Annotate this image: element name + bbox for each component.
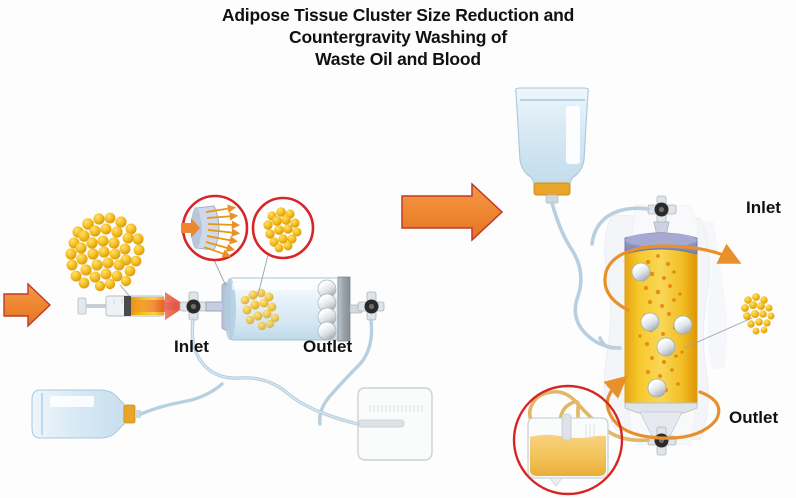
left-panel — [4, 196, 432, 460]
figure-canvas: Adipose Tissue Cluster Size Reduction an… — [0, 0, 796, 498]
outlet-label-left: Outlet — [303, 337, 352, 357]
saline-bottle-inverted — [516, 88, 589, 203]
mesh-screen-inset — [181, 196, 247, 286]
inlet-label-left: Inlet — [174, 337, 209, 357]
right-panel — [514, 88, 775, 494]
vertical-wash-column — [625, 233, 697, 436]
saline-bottle-horizontal — [32, 390, 141, 438]
three-way-stopcock-outlet — [358, 292, 384, 320]
process-input-arrow — [4, 284, 50, 326]
three-way-stopcock-inlet — [180, 292, 206, 320]
syringe — [78, 292, 186, 320]
waste-oil-and-blood-bag — [514, 386, 622, 494]
inlet-label-right: Inlet — [746, 198, 781, 218]
stage-transition-arrow — [402, 184, 502, 240]
figure-illustration — [0, 0, 796, 498]
outlet-label-right: Outlet — [729, 408, 778, 428]
collection-bag-empty — [358, 388, 432, 460]
horizontal-filter-chamber — [206, 277, 362, 341]
